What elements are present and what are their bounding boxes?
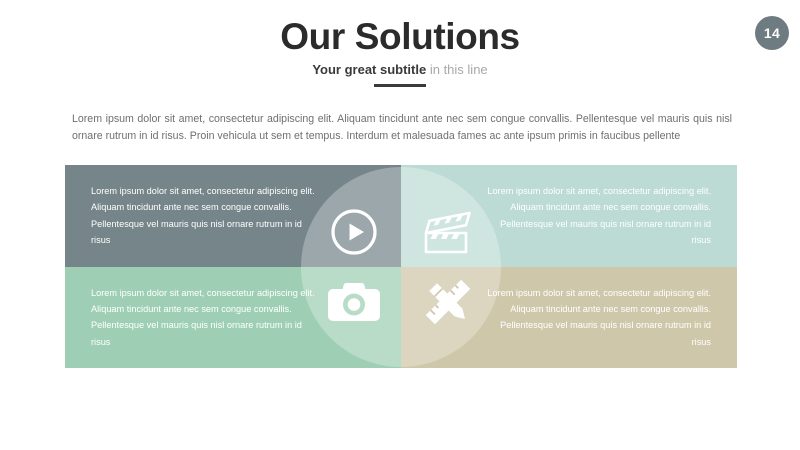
title-divider	[374, 84, 426, 87]
solutions-quadrant-grid: Lorem ipsum dolor sit amet, consectetur …	[65, 165, 737, 368]
clapperboard-icon	[417, 201, 479, 263]
slide-header: Our Solutions Your great subtitle in thi…	[0, 17, 800, 87]
quadrant-top-left-text: Lorem ipsum dolor sit amet, consectetur …	[91, 183, 319, 249]
quadrant-bottom-left-text: Lorem ipsum dolor sit amet, consectetur …	[91, 285, 319, 351]
camera-icon	[323, 271, 385, 333]
ruler-pencil-icon	[417, 271, 479, 333]
play-icon	[323, 201, 385, 263]
subtitle: Your great subtitle in this line	[0, 63, 800, 77]
page-title: Our Solutions	[0, 17, 800, 57]
intro-paragraph: Lorem ipsum dolor sit amet, consectetur …	[72, 111, 732, 147]
subtitle-light: in this line	[430, 62, 488, 77]
quadrant-top-right-text: Lorem ipsum dolor sit amet, consectetur …	[483, 183, 711, 249]
subtitle-strong: Your great subtitle	[312, 62, 426, 77]
quadrant-bottom-right-text: Lorem ipsum dolor sit amet, consectetur …	[483, 285, 711, 351]
